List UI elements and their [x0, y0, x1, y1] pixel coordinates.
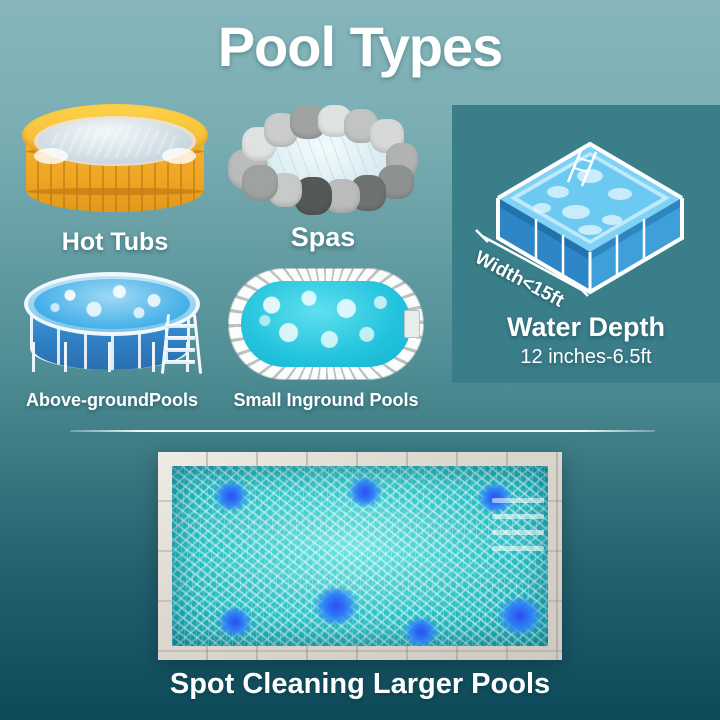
- pool-jet-light: [218, 608, 252, 636]
- label-spas: Spas: [228, 222, 418, 253]
- oval-inground-pool-icon: [228, 268, 424, 380]
- pool-ladder-icon: [160, 314, 204, 376]
- pool-jet-light: [314, 588, 358, 624]
- inground-pool-water: [241, 281, 411, 367]
- spa-stone-ring-icon: [228, 105, 418, 217]
- large-pool-water: [172, 466, 548, 646]
- hot-tub-seat-right: [162, 148, 196, 164]
- width-dimension: Width<15ft: [470, 228, 630, 308]
- hot-tub-rim: [22, 104, 208, 166]
- label-small-inground-pools: Small Inground Pools: [222, 390, 430, 411]
- section-divider: [70, 430, 655, 432]
- bottom-caption: Spot Cleaning Larger Pools: [0, 668, 720, 701]
- pool-jet-light: [404, 618, 438, 646]
- hot-tub-icon: [22, 98, 208, 226]
- label-hot-tubs: Hot Tubs: [22, 228, 208, 257]
- pool-jet-light: [348, 478, 382, 506]
- water-depth-title: Water Depth: [452, 312, 720, 343]
- spa-rock: [242, 165, 278, 201]
- ladder-step: [165, 348, 195, 352]
- ladder-step: [165, 336, 195, 340]
- large-pool-steps: [492, 474, 544, 638]
- infographic-canvas: Pool Types Hot Tubs Spas: [0, 0, 720, 720]
- pool-leg: [32, 342, 35, 372]
- pool-steps: [404, 310, 420, 338]
- hot-tub-seat-left: [34, 148, 68, 164]
- hot-tub-band-lower: [26, 188, 204, 195]
- label-above-ground-pools: Above-groundPools: [8, 390, 216, 411]
- water-depth-value: 12 inches-6.5ft: [452, 346, 720, 369]
- pool-leg: [64, 342, 67, 372]
- ladder-rail: [193, 314, 202, 374]
- large-rectangular-pool-icon: [158, 452, 562, 660]
- page-title: Pool Types: [0, 14, 720, 79]
- ladder-step: [165, 324, 195, 328]
- ladder-rail: [161, 314, 170, 374]
- pool-leg: [152, 342, 155, 372]
- pool-leg: [108, 342, 111, 372]
- above-ground-pool-icon: [24, 268, 200, 388]
- ladder-step: [165, 360, 195, 364]
- pool-jet-light: [214, 482, 248, 510]
